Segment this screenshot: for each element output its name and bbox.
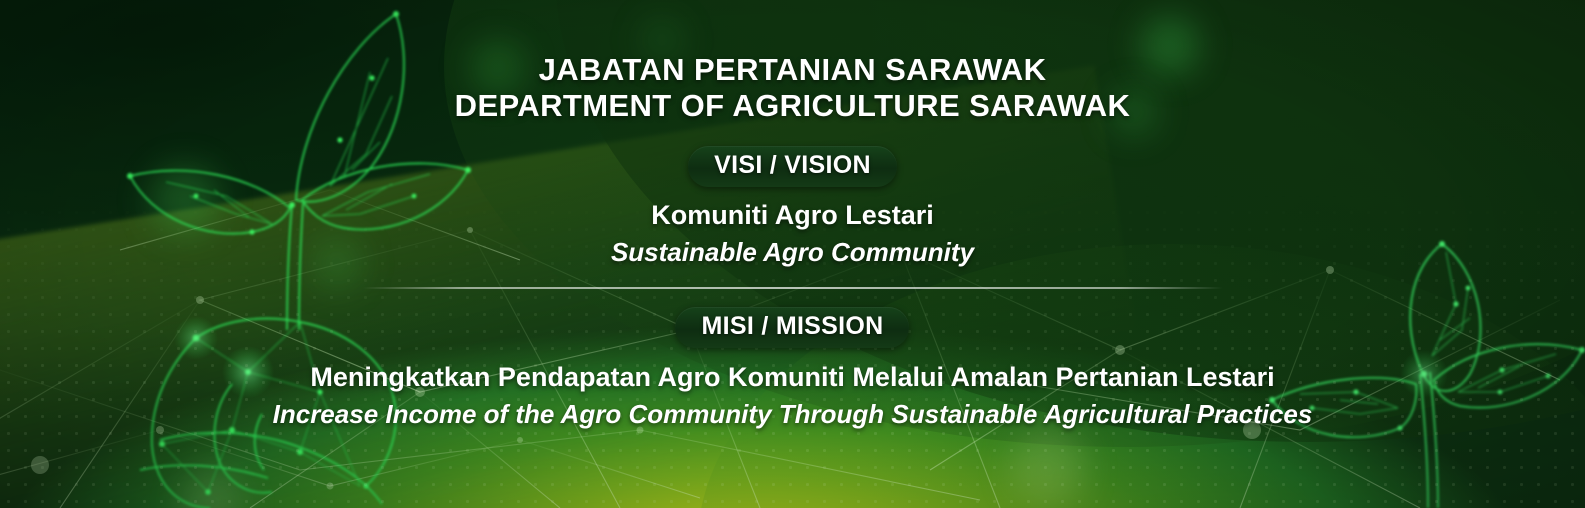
mission-statement-malay: Meningkatkan Pendapatan Agro Komuniti Me… (273, 362, 1313, 393)
vision-statement-english: Sustainable Agro Community (611, 237, 974, 268)
section-divider (363, 287, 1223, 289)
organization-title: JABATAN PERTANIAN SARAWAK DEPARTMENT OF … (455, 52, 1131, 124)
org-name-english: DEPARTMENT OF AGRICULTURE SARAWAK (455, 88, 1131, 124)
vision-section: VISI / VISION Komuniti Agro Lestari Sust… (611, 146, 974, 268)
vision-statement-malay: Komuniti Agro Lestari (611, 200, 974, 231)
vision-mission-banner: JABATAN PERTANIAN SARAWAK DEPARTMENT OF … (0, 0, 1585, 508)
vision-badge: VISI / VISION (688, 146, 897, 187)
banner-content: JABATAN PERTANIAN SARAWAK DEPARTMENT OF … (0, 0, 1585, 508)
org-name-malay: JABATAN PERTANIAN SARAWAK (455, 52, 1131, 88)
mission-section: MISI / MISSION Meningkatkan Pendapatan A… (273, 307, 1313, 430)
mission-badge: MISI / MISSION (675, 307, 909, 348)
mission-statement-english: Increase Income of the Agro Community Th… (273, 399, 1313, 430)
